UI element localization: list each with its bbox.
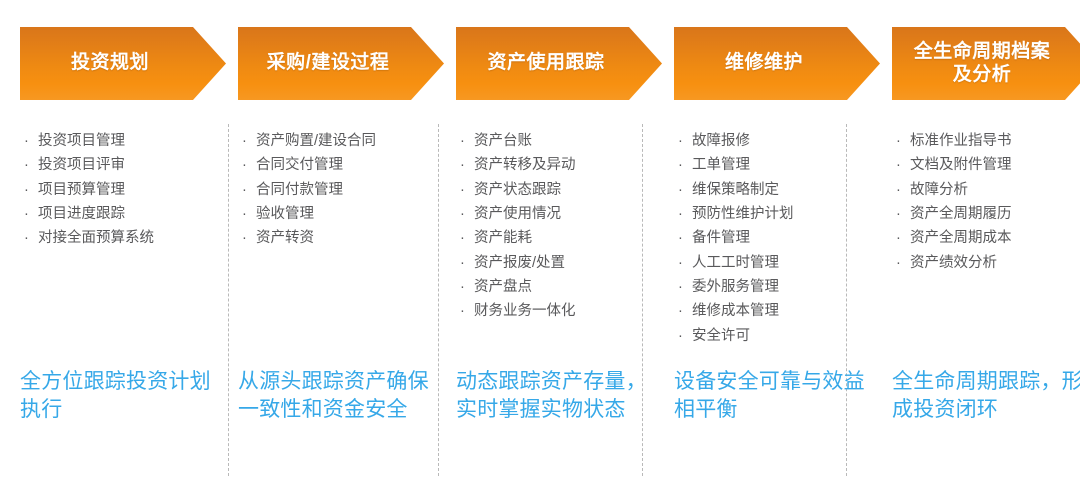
list-item: · 资产绩效分析 [892,253,1080,274]
stage-header-label: 维修维护 [725,52,803,74]
list-item-label: 投资项目评审 [38,155,225,176]
bullet-marker-icon: · [238,204,256,225]
stage-summary-4: 设备安全可靠与效益相平衡 [674,368,874,424]
list-item-label: 资产绩效分析 [910,253,1080,274]
stage-column-5: 全生命周期档案 及分析 · 标准作业指导书 · 文档及附件管理 · 故障分析 ·… [892,0,1080,495]
bullet-marker-icon: · [456,155,474,176]
list-item: · 资产全周期成本 [892,228,1080,249]
list-item-label: 维保策略制定 [692,180,879,201]
list-item-label: 项目进度跟踪 [38,204,225,225]
list-item-label: 安全许可 [692,326,879,347]
stage-column-2: 采购/建设过程 · 资产购置/建设合同 · 合同交付管理 · 合同付款管理 · … [238,0,443,495]
list-item-label: 验收管理 [256,204,443,225]
stage-header-label: 采购/建设过程 [267,52,390,74]
stage-summary-2: 从源头跟踪资产确保一致性和资金安全 [238,368,438,424]
stage-feature-list-4: · 故障报修 · 工单管理 · 维保策略制定 · 预防性维护计划 · 备件管 [674,131,879,350]
list-item: · 人工工时管理 [674,253,879,274]
list-item: · 安全许可 [674,326,879,347]
list-item-label: 资产全周期履历 [910,204,1080,225]
list-item: · 项目进度跟踪 [20,204,225,225]
bullet-marker-icon: · [20,204,38,225]
list-item: · 标准作业指导书 [892,131,1080,152]
bullet-marker-icon: · [674,180,692,201]
list-item: · 资产台账 [456,131,661,152]
stage-summary-1: 全方位跟踪投资计划执行 [20,368,220,424]
stage-feature-list-1: · 投资项目管理 · 投资项目评审 · 项目预算管理 · 项目进度跟踪 · [20,131,225,253]
stage-column-4: 维修维护 · 故障报修 · 工单管理 · 维保策略制定 · 预防性维护计划 [674,0,879,495]
bullet-marker-icon: · [20,155,38,176]
stage-header-arrow-4[interactable]: 维修维护 [674,27,880,100]
list-item: · 故障分析 [892,180,1080,201]
list-item-label: 故障分析 [910,180,1080,201]
list-item-label: 投资项目管理 [38,131,225,152]
bullet-marker-icon: · [456,253,474,274]
list-item-label: 资产购置/建设合同 [256,131,443,152]
stage-summary-5: 全生命周期跟踪，形成投资闭环 [892,368,1080,424]
list-item: · 资产状态跟踪 [456,180,661,201]
list-item: · 资产盘点 [456,277,661,298]
list-item-label: 资产使用情况 [474,204,661,225]
stage-header-arrow-3[interactable]: 资产使用跟踪 [456,27,662,100]
list-item: · 资产全周期履历 [892,204,1080,225]
bullet-marker-icon: · [238,131,256,152]
list-item-label: 标准作业指导书 [910,131,1080,152]
bullet-marker-icon: · [456,277,474,298]
list-item: · 财务业务一体化 [456,301,661,322]
list-item: · 资产能耗 [456,228,661,249]
list-item: · 维修成本管理 [674,301,879,322]
list-item-label: 资产盘点 [474,277,661,298]
list-item: · 合同付款管理 [238,180,443,201]
list-item-label: 对接全面预算系统 [38,228,225,249]
bullet-marker-icon: · [456,228,474,249]
stage-columns: 投资规划 · 投资项目管理 · 投资项目评审 · 项目预算管理 · 项目进度跟踪 [0,0,1080,495]
list-item: · 文档及附件管理 [892,155,1080,176]
stage-header-label: 全生命周期档案 及分析 [914,41,1051,86]
bullet-marker-icon: · [674,131,692,152]
stage-header-label: 资产使用跟踪 [487,52,604,74]
list-item: · 故障报修 [674,131,879,152]
list-item-label: 资产能耗 [474,228,661,249]
bullet-marker-icon: · [20,131,38,152]
list-item-label: 维修成本管理 [692,301,879,322]
bullet-marker-icon: · [892,253,910,274]
bullet-marker-icon: · [20,228,38,249]
stage-header-arrow-2[interactable]: 采购/建设过程 [238,27,444,100]
list-item: · 资产转资 [238,228,443,249]
list-item: · 备件管理 [674,228,879,249]
bullet-marker-icon: · [238,228,256,249]
list-item: · 资产使用情况 [456,204,661,225]
list-item: · 合同交付管理 [238,155,443,176]
list-item-label: 文档及附件管理 [910,155,1080,176]
list-item: · 资产购置/建设合同 [238,131,443,152]
bullet-marker-icon: · [892,131,910,152]
bullet-marker-icon: · [674,228,692,249]
list-item: · 工单管理 [674,155,879,176]
bullet-marker-icon: · [892,204,910,225]
list-item-label: 资产转移及异动 [474,155,661,176]
list-item-label: 合同付款管理 [256,180,443,201]
list-item-label: 委外服务管理 [692,277,879,298]
list-item-label: 备件管理 [692,228,879,249]
stage-column-1: 投资规划 · 投资项目管理 · 投资项目评审 · 项目预算管理 · 项目进度跟踪 [20,0,225,495]
list-item: · 项目预算管理 [20,180,225,201]
list-item: · 预防性维护计划 [674,204,879,225]
list-item-label: 财务业务一体化 [474,301,661,322]
list-item-label: 资产报废/处置 [474,253,661,274]
list-item-label: 资产台账 [474,131,661,152]
list-item: · 投资项目管理 [20,131,225,152]
bullet-marker-icon: · [456,204,474,225]
list-item: · 维保策略制定 [674,180,879,201]
list-item-label: 预防性维护计划 [692,204,879,225]
bullet-marker-icon: · [674,277,692,298]
list-item: · 对接全面预算系统 [20,228,225,249]
list-item: · 委外服务管理 [674,277,879,298]
bullet-marker-icon: · [456,180,474,201]
bullet-marker-icon: · [892,228,910,249]
stage-feature-list-5: · 标准作业指导书 · 文档及附件管理 · 故障分析 · 资产全周期履历 · [892,131,1080,277]
list-item-label: 合同交付管理 [256,155,443,176]
list-item-label: 资产转资 [256,228,443,249]
list-item: · 资产报废/处置 [456,253,661,274]
bullet-marker-icon: · [674,253,692,274]
list-item-label: 资产状态跟踪 [474,180,661,201]
bullet-marker-icon: · [674,326,692,347]
bullet-marker-icon: · [20,180,38,201]
list-item-label: 项目预算管理 [38,180,225,201]
list-item: · 资产转移及异动 [456,155,661,176]
stage-header-arrow-1[interactable]: 投资规划 [20,27,226,100]
list-item: · 投资项目评审 [20,155,225,176]
bullet-marker-icon: · [892,155,910,176]
list-item-label: 工单管理 [692,155,879,176]
bullet-marker-icon: · [674,155,692,176]
stage-feature-list-3: · 资产台账 · 资产转移及异动 · 资产状态跟踪 · 资产使用情况 · 资 [456,131,661,326]
process-flow-diagram: 投资规划 · 投资项目管理 · 投资项目评审 · 项目预算管理 · 项目进度跟踪 [0,0,1080,495]
stage-header-label: 投资规划 [71,52,149,74]
stage-feature-list-2: · 资产购置/建设合同 · 合同交付管理 · 合同付款管理 · 验收管理 · [238,131,443,253]
bullet-marker-icon: · [674,301,692,322]
stage-summary-3: 动态跟踪资产存量，实时掌握实物状态 [456,368,656,424]
bullet-marker-icon: · [456,131,474,152]
list-item-label: 人工工时管理 [692,253,879,274]
bullet-marker-icon: · [238,155,256,176]
stage-header-arrow-5[interactable]: 全生命周期档案 及分析 [892,27,1080,100]
bullet-marker-icon: · [238,180,256,201]
stage-column-3: 资产使用跟踪 · 资产台账 · 资产转移及异动 · 资产状态跟踪 · 资产使用情… [456,0,661,495]
bullet-marker-icon: · [892,180,910,201]
list-item: · 验收管理 [238,204,443,225]
bullet-marker-icon: · [674,204,692,225]
list-item-label: 资产全周期成本 [910,228,1080,249]
list-item-label: 故障报修 [692,131,879,152]
bullet-marker-icon: · [456,301,474,322]
